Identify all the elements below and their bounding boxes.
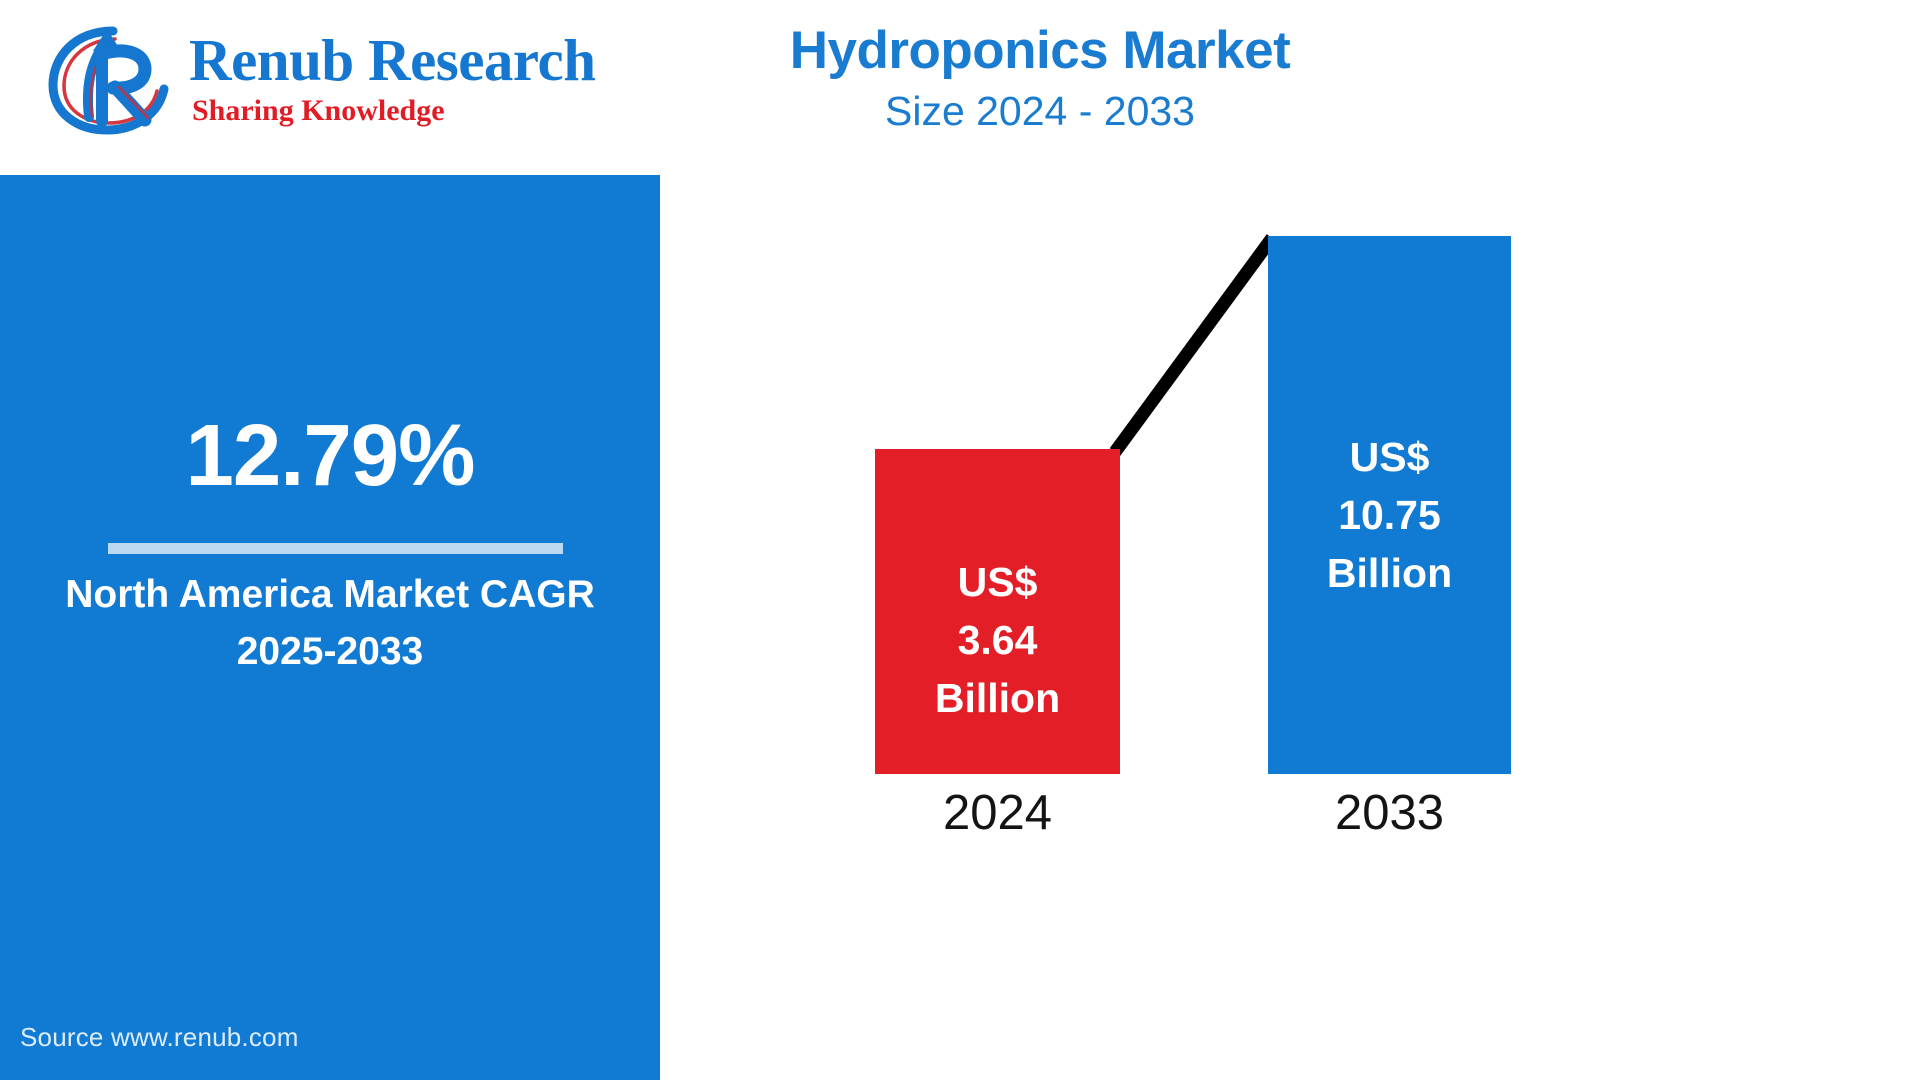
bar-2024-unit: Billion bbox=[935, 669, 1060, 727]
cagr-panel: 12.79% North America Market CAGR 2025-20… bbox=[0, 175, 660, 1080]
infographic-canvas: Renub Research Sharing Knowledge Hydropo… bbox=[0, 0, 1920, 1080]
renub-r-arrow-swoosh-logo-icon bbox=[45, 17, 175, 135]
bar-2033-value: 10.75 bbox=[1338, 486, 1441, 544]
brand-name: Renub Research bbox=[189, 31, 596, 90]
axis-label-2033: 2033 bbox=[1268, 789, 1511, 838]
cagr-value: 12.79% bbox=[0, 412, 660, 499]
cagr-caption: North America Market CAGR 2025-2033 bbox=[0, 567, 660, 680]
brand-tagline: Sharing Knowledge bbox=[192, 96, 596, 126]
brand-logo[interactable]: Renub Research Sharing Knowledge bbox=[45, 8, 665, 143]
bar-2033-unit: Billion bbox=[1327, 544, 1452, 602]
source-text: Source www.renub.com bbox=[20, 1022, 299, 1053]
bar-2024-value: 3.64 bbox=[958, 611, 1038, 669]
bar-chart: US$ 3.64 Billion US$ 10.75 Billion 2024 … bbox=[660, 0, 1920, 1080]
bar-2033[interactable]: US$ 10.75 Billion bbox=[1268, 236, 1511, 774]
brand-wordmark: Renub Research Sharing Knowledge bbox=[189, 25, 596, 126]
cagr-caption-line-1: North America Market CAGR bbox=[0, 567, 660, 624]
bar-2033-currency: US$ bbox=[1350, 428, 1430, 486]
cagr-caption-line-2: 2025-2033 bbox=[0, 624, 660, 681]
cagr-divider bbox=[108, 543, 563, 554]
bar-2024[interactable]: US$ 3.64 Billion bbox=[875, 449, 1120, 774]
axis-label-2024: 2024 bbox=[875, 789, 1120, 838]
bar-2024-currency: US$ bbox=[958, 553, 1038, 611]
